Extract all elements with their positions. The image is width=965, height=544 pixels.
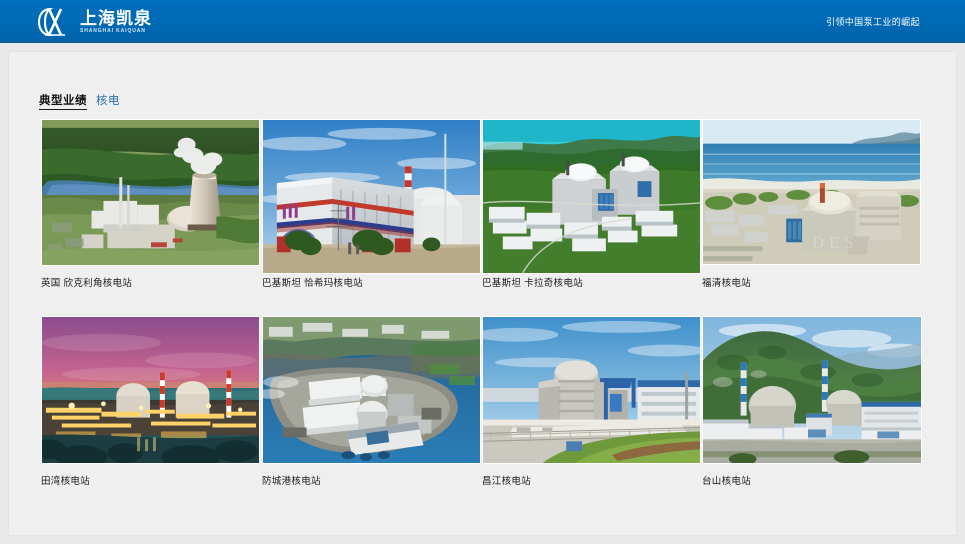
presentation-slide-page: 上海凯泉 SHANGHAI KAIQUAN 引领中国泵工业的崛起 典型业绩 核电 xyxy=(0,0,965,544)
slide-background: 典型业绩 核电 xyxy=(0,43,965,544)
header-tagline: 引领中国泵工业的崛起 xyxy=(826,0,920,43)
gallery-item-caption: 防城港核电站 xyxy=(262,473,481,487)
plant-photo-aerial-cooling-tower[interactable] xyxy=(41,119,260,266)
plant-photo-coastal-rendering[interactable]: DES xyxy=(702,119,921,265)
section-header: 典型业绩 核电 xyxy=(39,92,120,110)
kaiquan-monogram-icon xyxy=(36,6,74,38)
section-subtitle: 核电 xyxy=(96,92,120,108)
gallery-item[interactable]: 防城港核电站 xyxy=(262,316,481,487)
plant-photo-containment-crane[interactable] xyxy=(482,316,701,464)
gallery-item-caption: 田湾核电站 xyxy=(41,473,260,487)
gallery-item[interactable]: 田湾核电站 xyxy=(41,316,260,487)
gallery-item[interactable]: 昌江核电站 xyxy=(482,316,701,487)
logo-wordmark: 上海凯泉 SHANGHAI KAIQUAN xyxy=(80,10,152,34)
gallery-item[interactable]: 英国 欣克利角核电站 xyxy=(41,119,260,289)
gallery-item[interactable]: 台山核电站 xyxy=(702,316,921,487)
gallery-item-caption: 英国 欣克利角核电站 xyxy=(41,275,260,289)
plant-photo-dusk-waterfront[interactable] xyxy=(41,316,260,464)
plant-photo-mountain-twin-domes[interactable] xyxy=(702,316,922,464)
header-bar: 上海凯泉 SHANGHAI KAIQUAN 引领中国泵工业的崛起 xyxy=(0,0,965,43)
company-logo: 上海凯泉 SHANGHAI KAIQUAN xyxy=(36,5,152,38)
gallery-item-caption: 台山核电站 xyxy=(702,473,921,487)
gallery-item-caption: 巴基斯坦 卡拉奇核电站 xyxy=(482,275,701,289)
logo-company-en: SHANGHAI KAIQUAN xyxy=(80,29,152,34)
plant-photo-rendering-twin-dome[interactable] xyxy=(482,119,701,274)
gallery-item[interactable]: 巴基斯坦 卡拉奇核电站 xyxy=(482,119,701,289)
gallery-item[interactable]: DES 福清核电站 xyxy=(702,119,921,289)
plant-photo-aerial-peninsula[interactable] xyxy=(262,316,481,464)
slide-canvas: 典型业绩 核电 xyxy=(8,51,957,536)
gallery-item-caption: 巴基斯坦 恰希玛核电站 xyxy=(262,275,481,289)
logo-company-cn: 上海凯泉 xyxy=(80,10,152,27)
svg-text:DES: DES xyxy=(812,233,859,252)
section-title: 典型业绩 xyxy=(39,92,87,110)
gallery-item-caption: 福清核电站 xyxy=(702,275,921,289)
gallery-item-caption: 昌江核电站 xyxy=(482,473,701,487)
plant-photo-turbine-hall[interactable] xyxy=(262,119,481,274)
gallery-item[interactable]: 巴基斯坦 恰希玛核电站 xyxy=(262,119,481,289)
